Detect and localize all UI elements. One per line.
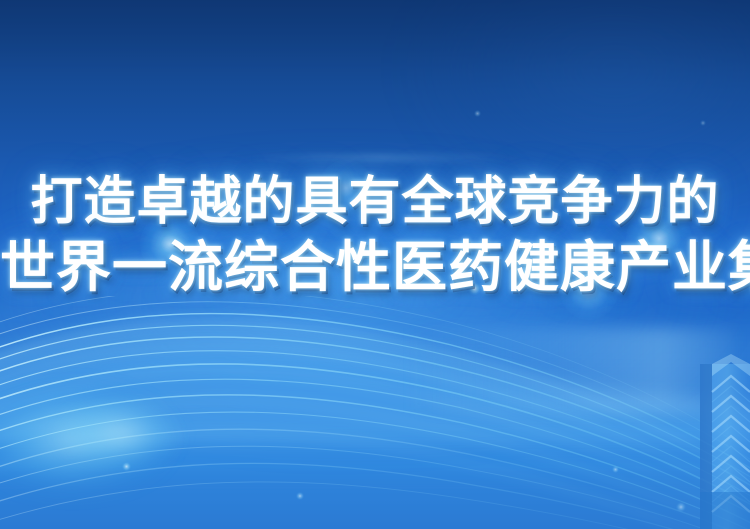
tower-light-beam bbox=[405, 328, 735, 413]
streak-convergence-core bbox=[38, 391, 203, 476]
vision-banner: 打造卓越的具有全球竞争力的 世界一流综合性医药健康产业集团 bbox=[0, 0, 750, 529]
